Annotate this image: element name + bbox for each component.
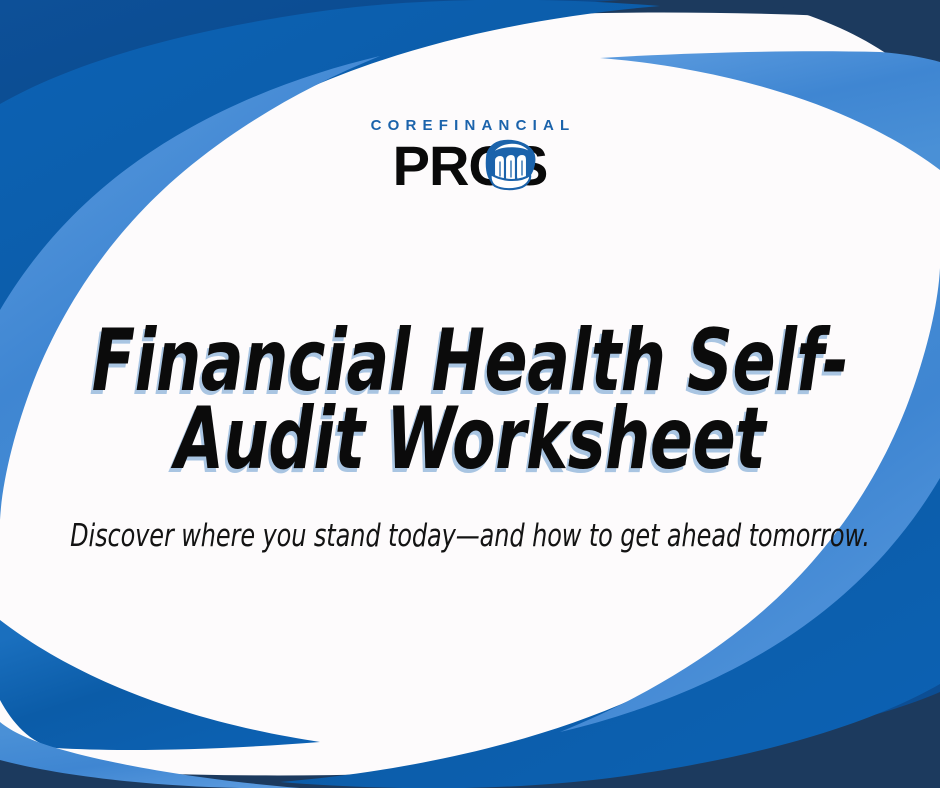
fist-icon (477, 138, 539, 192)
brand-logo: COREFINANCIAL PROS (0, 118, 940, 192)
logo-mark: PROS (393, 140, 548, 192)
page-subtitle: Discover where you stand today—and how t… (66, 518, 874, 554)
slide-content: COREFINANCIAL PROS (0, 0, 940, 788)
logo-wordmark-corefinancial: COREFINANCIAL (0, 118, 940, 133)
title-slide: COREFINANCIAL PROS (0, 0, 940, 788)
page-title: Financial Health Self- Audit Worksheet (0, 322, 940, 478)
page-title-line-2: Audit Worksheet (85, 400, 856, 478)
